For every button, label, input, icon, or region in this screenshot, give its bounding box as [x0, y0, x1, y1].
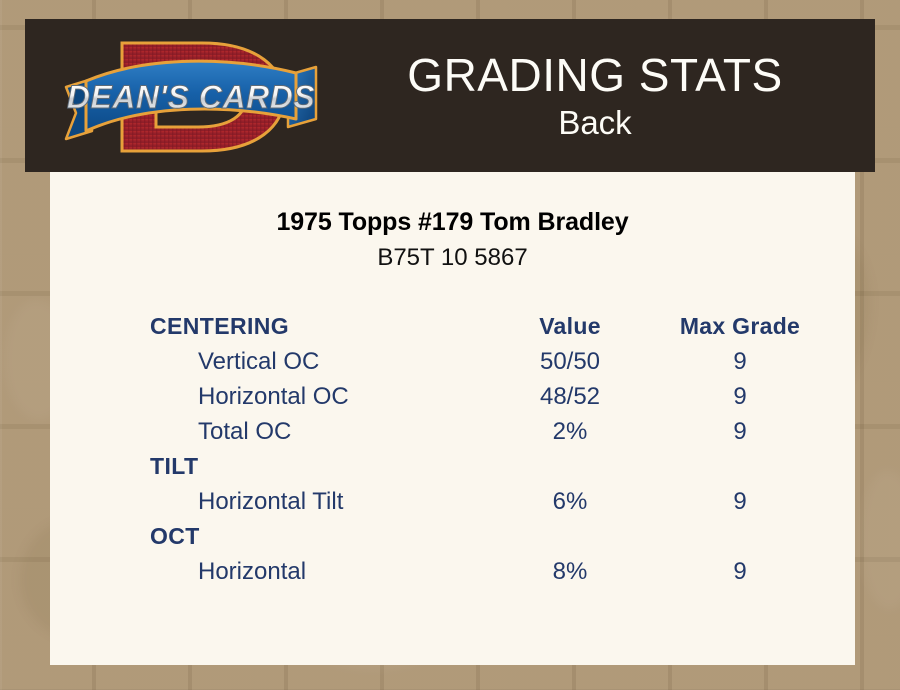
table-row: Horizontal8%9: [150, 555, 855, 590]
card-title: 1975 Topps #179 Tom Bradley: [50, 208, 855, 237]
page-title: GRADING STATS: [407, 49, 782, 101]
row-label: Horizontal OC: [198, 380, 349, 413]
section-title: OCT: [150, 520, 200, 553]
row-max-grade: 9: [650, 380, 830, 413]
header-title-block: GRADING STATS Back: [315, 19, 875, 172]
table-row: Horizontal Tilt6%9: [150, 485, 855, 520]
row-value: 50/50: [500, 345, 640, 378]
section-header-row: CENTERINGValueMax Grade: [150, 310, 855, 345]
row-max-grade: 9: [650, 555, 830, 588]
column-header-max-grade: Max Grade: [650, 310, 830, 343]
section-header-row: OCT: [150, 520, 855, 555]
section-header-row: TILT: [150, 450, 855, 485]
row-label: Horizontal: [198, 555, 306, 588]
section-title: TILT: [150, 450, 198, 483]
row-label: Total OC: [198, 415, 291, 448]
column-header-value: Value: [500, 310, 640, 343]
row-label: Vertical OC: [198, 345, 319, 378]
table-row: Horizontal OC48/529: [150, 380, 855, 415]
card-subtitle: B75T 10 5867: [50, 244, 855, 272]
row-max-grade: 9: [650, 485, 830, 518]
logo-ribbon-text: DEAN'S CARDS: [67, 79, 315, 115]
row-value: 2%: [500, 415, 640, 448]
content-panel: 1975 Topps #179 Tom Bradley B75T 10 5867…: [50, 172, 855, 665]
row-value: 8%: [500, 555, 640, 588]
deans-cards-logo[interactable]: DEAN'S CARDS: [52, 27, 332, 167]
row-value: 6%: [500, 485, 640, 518]
row-label: Horizontal Tilt: [198, 485, 343, 518]
table-row: Total OC2%9: [150, 415, 855, 450]
grading-stats-table: CENTERINGValueMax GradeVertical OC50/509…: [150, 310, 855, 590]
table-row: Vertical OC50/509: [150, 345, 855, 380]
section-title: CENTERING: [150, 310, 289, 343]
header-bar: DEAN'S CARDS GRADING STATS Back: [25, 19, 875, 172]
row-max-grade: 9: [650, 345, 830, 378]
row-value: 48/52: [500, 380, 640, 413]
logo-artwork: DEAN'S CARDS: [52, 27, 332, 167]
page-subtitle: Back: [558, 104, 631, 142]
row-max-grade: 9: [650, 415, 830, 448]
